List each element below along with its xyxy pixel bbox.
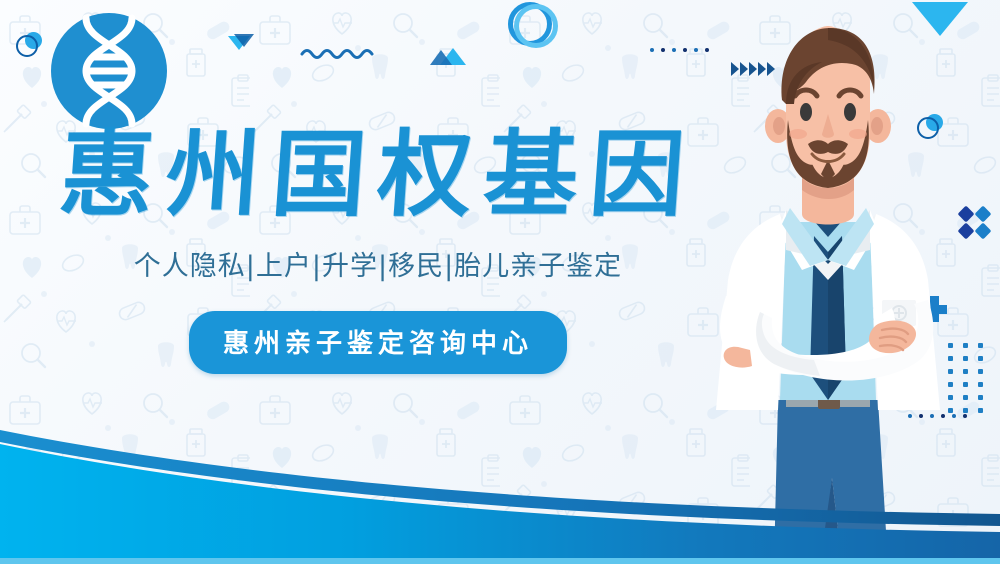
dna-helix-icon: [48, 10, 170, 132]
bottom-wave-decoration: [0, 404, 1000, 564]
circle-ring-overlap-topleft: [14, 32, 46, 54]
page-title: 惠州国权基因: [25, 128, 732, 222]
ring-big-top: [508, 2, 550, 42]
squiggle-line: [300, 46, 378, 60]
headline-block: 惠州国权基因 个人隐私|上户|升学|移民|胎儿亲子鉴定 惠州亲子鉴定咨询中心: [28, 128, 728, 374]
triangle-up-center: [430, 48, 464, 70]
consultation-center-button[interactable]: 惠州亲子鉴定咨询中心: [189, 311, 567, 374]
promo-banner: 惠州国权基因 个人隐私|上户|升学|移民|胎儿亲子鉴定 惠州亲子鉴定咨询中心: [0, 0, 1000, 564]
page-subtitle: 个人隐私|上户|升学|移民|胎儿亲子鉴定: [28, 244, 728, 283]
triangle-small-down-left: [228, 34, 258, 58]
bottom-accent-bar: [0, 558, 1000, 564]
